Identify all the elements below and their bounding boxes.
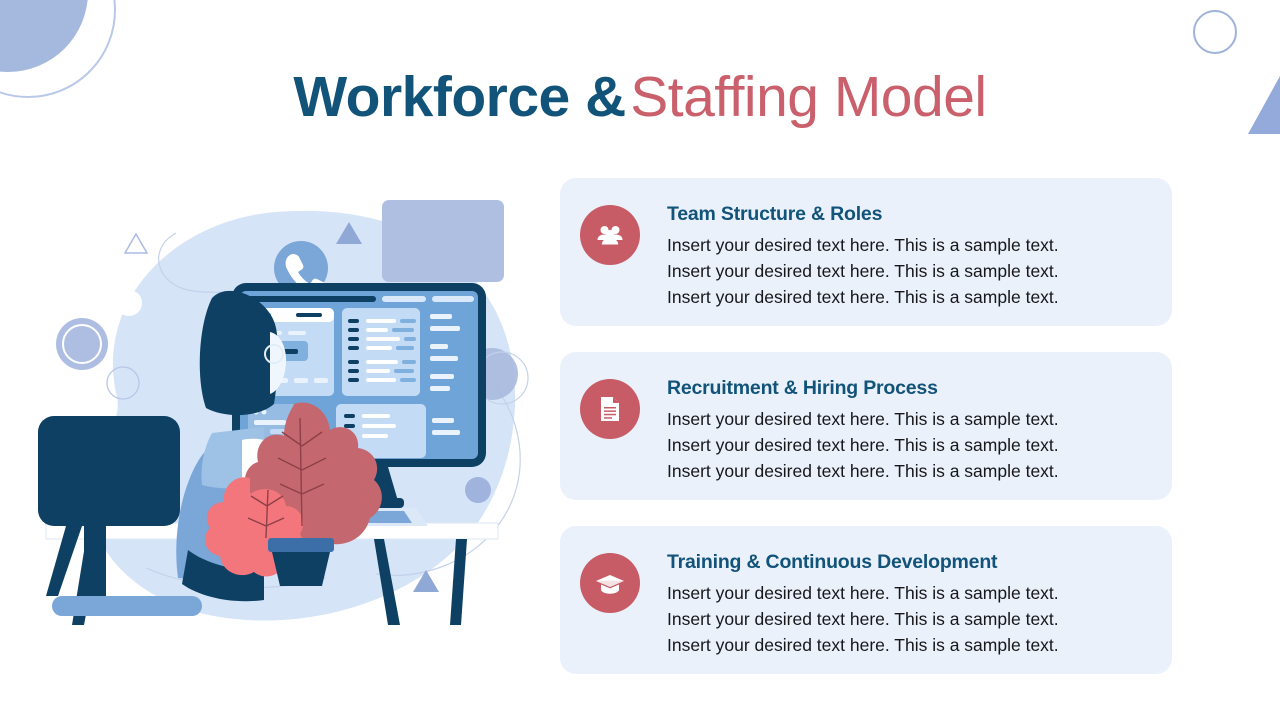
decorative-circle-top-left xyxy=(0,0,88,72)
card-body: Insert your desired text here. This is a… xyxy=(667,233,1059,311)
slide-title: Workforce & Staffing Model xyxy=(0,66,1280,130)
card-team-structure[interactable]: Team Structure & Roles Insert your desir… xyxy=(560,178,1172,326)
card-body-line: Insert your desired text here. This is a… xyxy=(667,407,1059,433)
card-body-line: Insert your desired text here. This is a… xyxy=(667,259,1059,285)
chair-back xyxy=(38,416,180,526)
pot-rim xyxy=(268,538,334,552)
graduation-cap-icon xyxy=(580,553,640,613)
card-text-block: Recruitment & Hiring Process Insert your… xyxy=(667,376,1059,485)
workspace-illustration xyxy=(26,178,556,670)
card-recruitment-hiring[interactable]: Recruitment & Hiring Process Insert your… xyxy=(560,352,1172,500)
pot-body xyxy=(272,552,330,586)
card-body: Insert your desired text here. This is a… xyxy=(667,581,1059,659)
chair-base xyxy=(52,596,202,616)
secondary-monitor xyxy=(382,200,504,282)
card-body-line: Insert your desired text here. This is a… xyxy=(667,285,1059,311)
card-body-line: Insert your desired text here. This is a… xyxy=(667,233,1059,259)
card-text-block: Team Structure & Roles Insert your desir… xyxy=(667,202,1059,311)
slide-title-primary: Workforce & xyxy=(293,65,625,129)
decorative-dot xyxy=(116,290,142,316)
card-title: Training & Continuous Development xyxy=(667,551,1059,574)
chair-post xyxy=(84,526,106,596)
card-body-line: Insert your desired text here. This is a… xyxy=(667,459,1059,485)
users-group-icon xyxy=(580,205,640,265)
decorative-dot xyxy=(465,477,491,503)
card-training-development[interactable]: Training & Continuous Development Insert… xyxy=(560,526,1172,674)
card-body: Insert your desired text here. This is a… xyxy=(667,407,1059,485)
slide-title-accent: Staffing Model xyxy=(630,65,986,129)
card-body-line: Insert your desired text here. This is a… xyxy=(667,433,1059,459)
card-body-line: Insert your desired text here. This is a… xyxy=(667,581,1059,607)
card-text-block: Training & Continuous Development Insert… xyxy=(667,550,1059,659)
card-title: Recruitment & Hiring Process xyxy=(667,377,1059,400)
decorative-triangle xyxy=(125,234,147,253)
content-cards-list: Team Structure & Roles Insert your desir… xyxy=(560,178,1172,700)
card-body-line: Insert your desired text here. This is a… xyxy=(667,633,1059,659)
document-file-icon xyxy=(580,379,640,439)
woman-hair xyxy=(200,291,278,415)
card-body-line: Insert your desired text here. This is a… xyxy=(667,607,1059,633)
card-title: Team Structure & Roles xyxy=(667,203,1059,226)
decorative-circle-top-right xyxy=(1193,10,1237,54)
